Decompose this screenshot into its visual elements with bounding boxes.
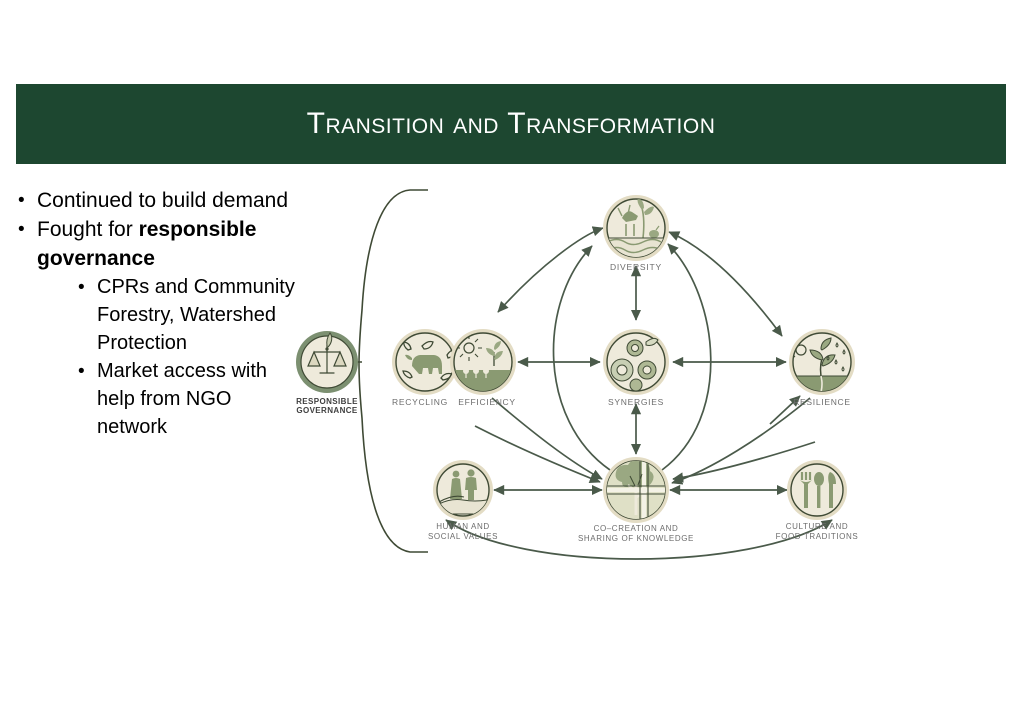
node-responsible-governance[interactable]: RESPONSIBLE GOVERNANCE [296, 331, 358, 415]
bullet-marker-icon: • [78, 357, 97, 386]
node-label: SHARING OF KNOWLEDGE [578, 534, 694, 543]
node-label: DIVERSITY [610, 262, 662, 272]
list-item-label: Continued to build demand [37, 186, 296, 215]
agroecology-elements-diagram: RESPONSIBLE GOVERNANCE [270, 170, 920, 580]
node-recycling[interactable]: RECYCLING [392, 329, 458, 407]
node-synergies[interactable]: SYNERGIES [603, 329, 669, 407]
bullet-marker-icon: • [78, 273, 97, 302]
bullet-marker-icon: • [18, 186, 37, 215]
slide-title-bar: Transition and Transformation [16, 84, 1006, 164]
node-label: RECYCLING [392, 397, 448, 407]
node-label: RESILIENCE [793, 397, 851, 407]
page-title: Transition and Transformation [307, 107, 716, 141]
node-label: SOCIAL VALUES [428, 532, 498, 541]
node-culture-food-traditions[interactable]: CULTURE AND FOOD TRADITIONS [776, 460, 859, 541]
node-label: HUMAN AND [436, 522, 489, 531]
list-item: • Fought for responsible governance [18, 215, 296, 273]
node-label: CO–CREATION AND [594, 524, 679, 533]
node-label: CULTURE AND [786, 522, 848, 531]
node-label: FOOD TRADITIONS [776, 532, 859, 541]
node-resilience[interactable]: RESILIENCE [789, 329, 855, 407]
node-label: EFFICIENCY [458, 397, 516, 407]
list-item-label: CPRs and Community Forestry, Watershed P… [97, 273, 296, 357]
node-diversity[interactable]: DIVERSITY [603, 195, 669, 272]
node-label: SYNERGIES [608, 397, 664, 407]
node-efficiency[interactable]: EFFICIENCY [450, 329, 516, 407]
node-human-social-values[interactable]: HUMAN AND SOCIAL VALUES [428, 460, 498, 541]
fork-spoon-knife-icon [800, 472, 836, 508]
list-item-label: Fought for responsible governance [37, 215, 296, 273]
list-item: • Market access with help from NGO netwo… [78, 357, 296, 441]
node-co-creation[interactable]: CO–CREATION AND SHARING OF KNOWLEDGE [578, 457, 694, 543]
list-item-label: Market access with help from NGO network [97, 357, 296, 441]
bullet-marker-icon: • [18, 215, 37, 244]
list-item: • Continued to build demand [18, 186, 296, 215]
node-label: GOVERNANCE [296, 406, 358, 415]
list-item: • CPRs and Community Forestry, Watershed… [78, 273, 296, 357]
node-label: RESPONSIBLE [296, 397, 358, 406]
bullet-list: • Continued to build demand • Fought for… [18, 186, 296, 441]
